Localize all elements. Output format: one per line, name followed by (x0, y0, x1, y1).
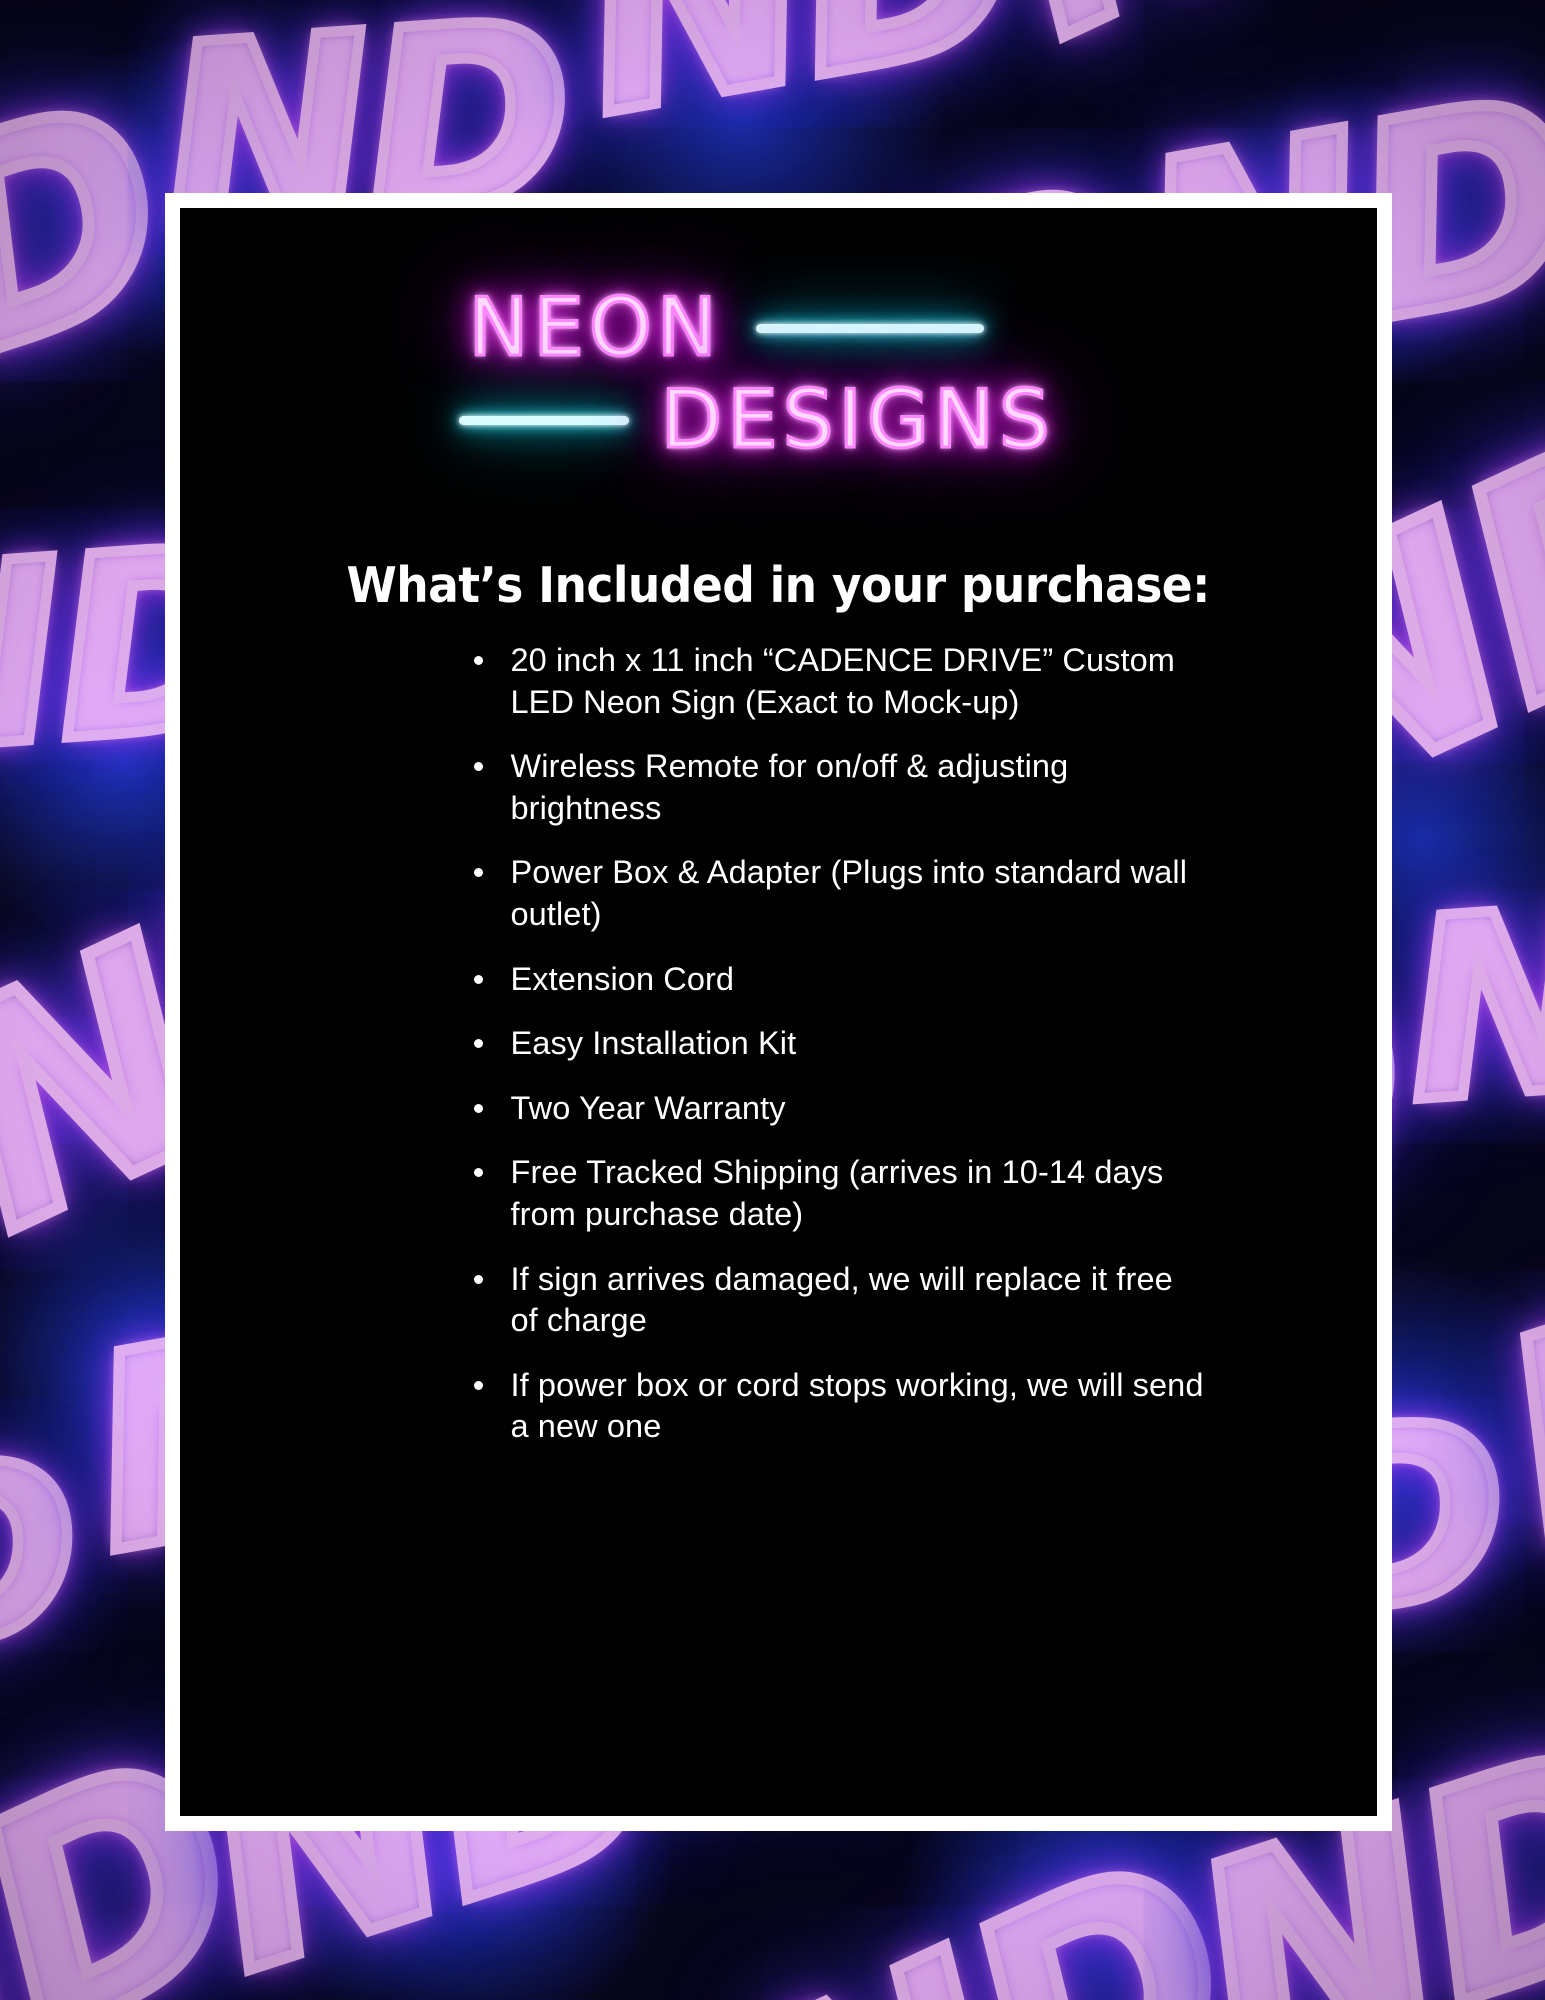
list-item: Two Year Warranty (467, 1088, 1209, 1130)
list-item: Extension Cord (467, 959, 1209, 1001)
list-item-label: 20 inch x 11 inch “CADENCE DRIVE” Custom… (511, 642, 1175, 720)
bullet-dot-icon (474, 656, 483, 665)
bullet-dot-icon (474, 1168, 483, 1177)
neon-designs-flyer: ND ND ND ND ND ND ND ND ND ND ND ND ND N… (0, 0, 1545, 2000)
bullet-dot-icon (474, 975, 483, 984)
list-item: If power box or cord stops working, we w… (467, 1365, 1209, 1448)
logo-row-bottom: DESIGNS (459, 380, 1055, 460)
content-card: NEON DESIGNS What’s Included in your pur… (180, 208, 1377, 1816)
bullet-dot-icon (474, 762, 483, 771)
neon-designs-logo: NEON DESIGNS (449, 280, 1109, 495)
logo-word-designs: DESIGNS (661, 380, 1055, 460)
list-item-label: Wireless Remote for on/off & adjusting b… (511, 748, 1069, 826)
list-item-label: Free Tracked Shipping (arrives in 10-14 … (511, 1154, 1164, 1232)
cyan-bar-top-icon (756, 324, 984, 333)
list-item: Free Tracked Shipping (arrives in 10-14 … (467, 1152, 1209, 1235)
list-item-label: Easy Installation Kit (511, 1025, 797, 1061)
list-item: Easy Installation Kit (467, 1023, 1209, 1065)
bullet-dot-icon (474, 868, 483, 877)
included-items-list: 20 inch x 11 inch “CADENCE DRIVE” Custom… (349, 640, 1209, 1448)
content-card-frame: NEON DESIGNS What’s Included in your pur… (165, 193, 1392, 1831)
list-item-label: Extension Cord (511, 961, 735, 997)
bullet-dot-icon (474, 1104, 483, 1113)
page-title: What’s Included in your purchase: (347, 557, 1210, 614)
logo-row-top: NEON (469, 288, 984, 368)
list-item: 20 inch x 11 inch “CADENCE DRIVE” Custom… (467, 640, 1209, 723)
bullet-dot-icon (474, 1275, 483, 1284)
bullet-dot-icon (474, 1039, 483, 1048)
logo-word-neon: NEON (469, 288, 722, 368)
list-item: Wireless Remote for on/off & adjusting b… (467, 746, 1209, 829)
cyan-bar-bottom-icon (459, 416, 629, 425)
list-item: If sign arrives damaged, we will replace… (467, 1259, 1209, 1342)
list-item: Power Box & Adapter (Plugs into standard… (467, 852, 1209, 935)
list-item-label: Two Year Warranty (511, 1090, 786, 1126)
bullet-dot-icon (474, 1381, 483, 1390)
list-item-label: If sign arrives damaged, we will replace… (511, 1261, 1173, 1339)
list-item-label: If power box or cord stops working, we w… (511, 1367, 1204, 1445)
list-item-label: Power Box & Adapter (Plugs into standard… (511, 854, 1188, 932)
